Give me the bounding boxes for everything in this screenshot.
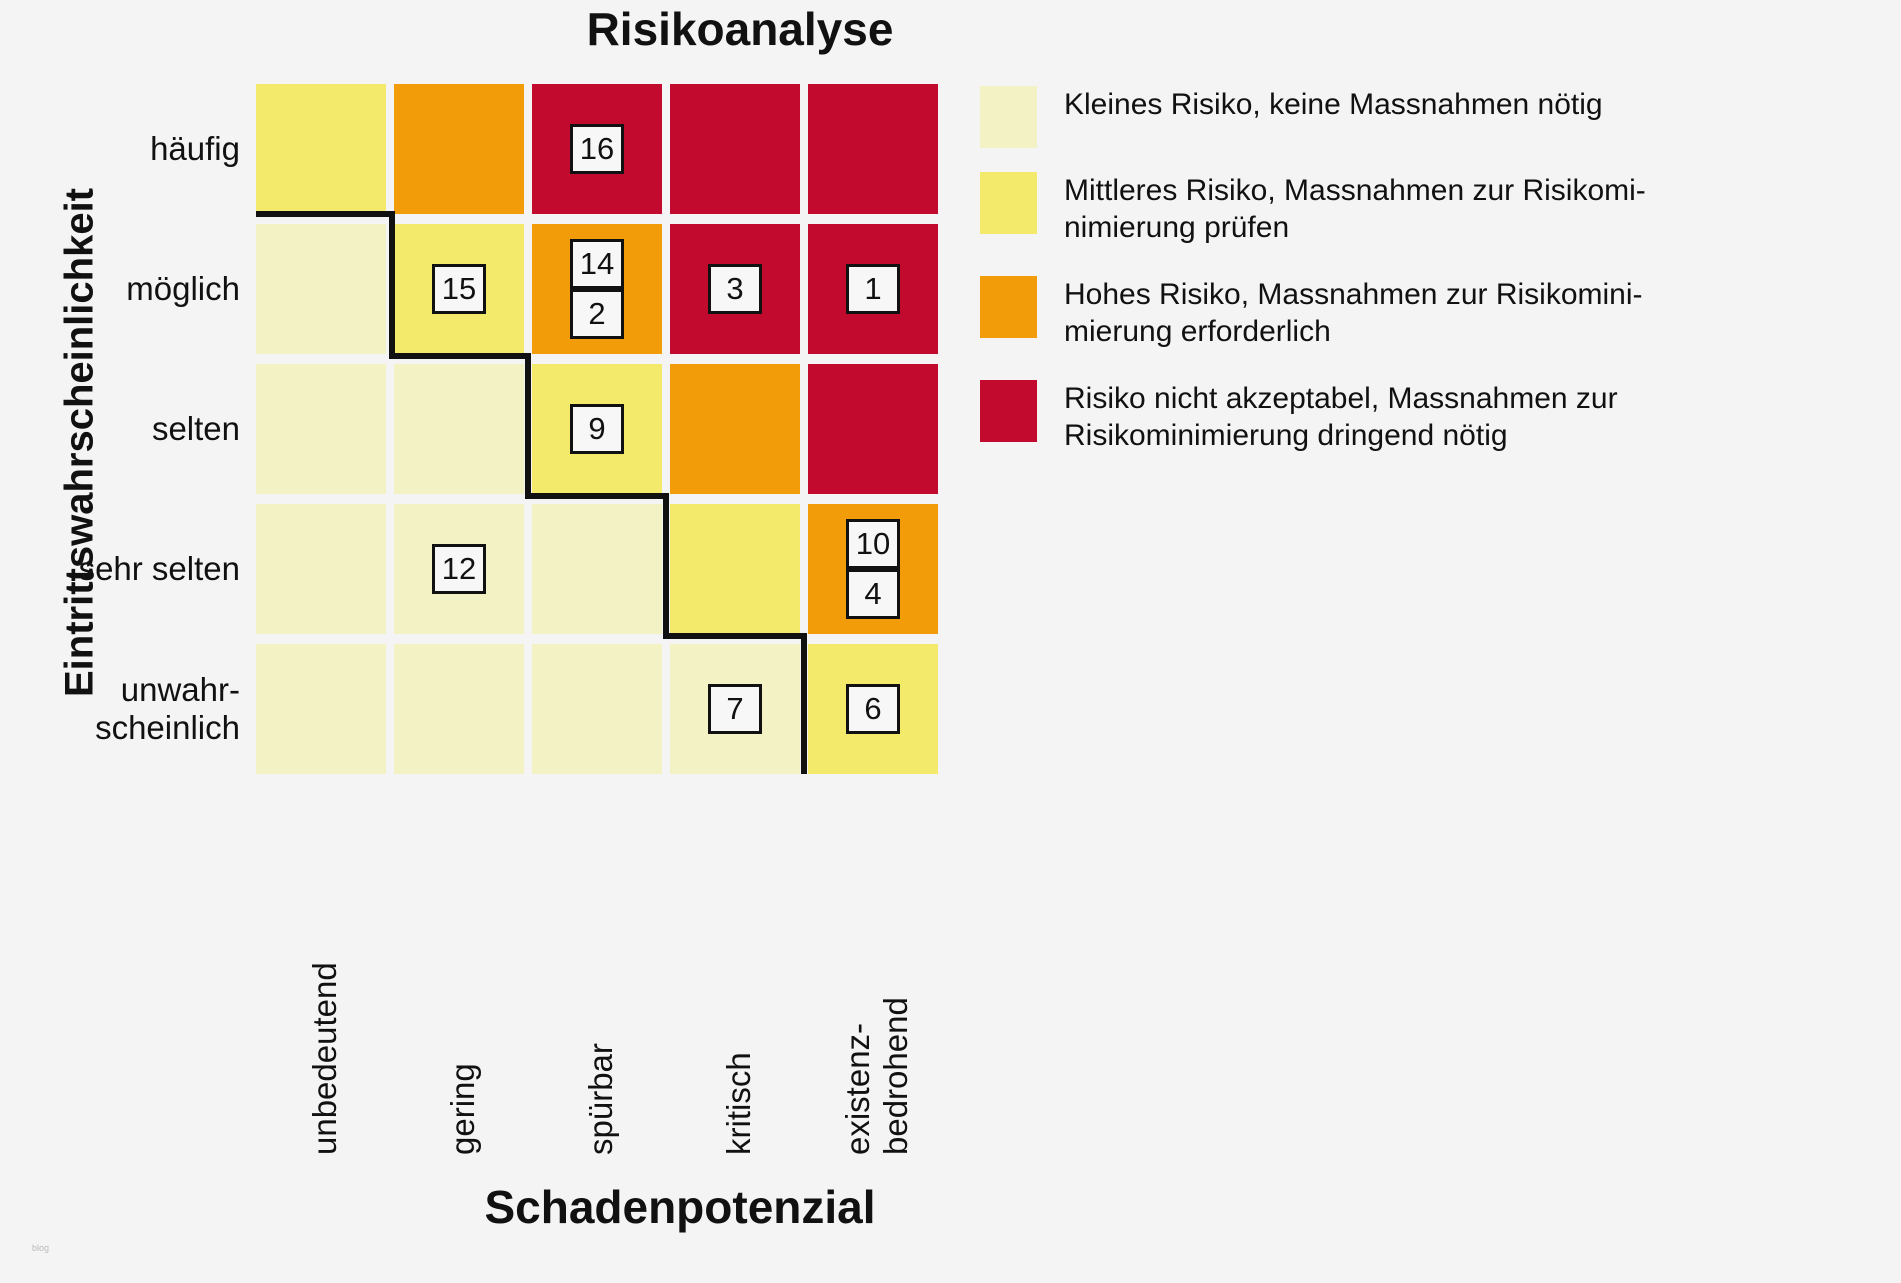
column-label-2: spürbar (582, 755, 620, 1155)
matrix-cell-r0-c3[interactable] (670, 84, 800, 214)
row-label-0: häufig (0, 130, 240, 168)
legend-item-critical: Risiko nicht akzeptabel, Massnahmen zur … (980, 380, 1618, 454)
legend-label-medium: Mittleres Risiko, Massnahmen zur Risikom… (1064, 172, 1646, 246)
row-label-3: sehr selten (0, 550, 240, 588)
legend-label-low: Kleines Risiko, keine Massnahmen nötig (1064, 86, 1603, 123)
risk-marker-2[interactable]: 2 (570, 289, 624, 339)
risk-marker-3[interactable]: 3 (708, 264, 762, 314)
risk-marker-7[interactable]: 7 (708, 684, 762, 734)
legend-item-high: Hohes Risiko, Massnahmen zur Risikomini-… (980, 276, 1643, 350)
column-label-4: existenz- bedrohend (839, 755, 915, 1155)
legend-item-low: Kleines Risiko, keine Massnahmen nötig (980, 86, 1603, 148)
risk-marker-10[interactable]: 10 (846, 519, 900, 569)
row-label-1: möglich (0, 270, 240, 308)
matrix-cell-r3-c2[interactable] (532, 504, 662, 634)
watermark: blog (32, 1243, 49, 1253)
risk-marker-6[interactable]: 6 (846, 684, 900, 734)
column-label-1: gering (444, 755, 482, 1155)
risk-marker-1[interactable]: 1 (846, 264, 900, 314)
matrix-cell-r3-c0[interactable] (256, 504, 386, 634)
risk-marker-15[interactable]: 15 (432, 264, 486, 314)
matrix-cell-r3-c3[interactable] (670, 504, 800, 634)
legend-item-medium: Mittleres Risiko, Massnahmen zur Risikom… (980, 172, 1646, 246)
matrix-cell-r0-c0[interactable] (256, 84, 386, 214)
legend-swatch-low (980, 86, 1037, 148)
matrix-cell-r2-c0[interactable] (256, 364, 386, 494)
legend-label-high: Hohes Risiko, Massnahmen zur Risikomini-… (1064, 276, 1643, 350)
matrix-cell-r2-c3[interactable] (670, 364, 800, 494)
matrix-cell-r2-c4[interactable] (808, 364, 938, 494)
column-label-0: unbedeutend (306, 755, 344, 1155)
risk-marker-14[interactable]: 14 (570, 239, 624, 289)
legend-swatch-high (980, 276, 1037, 338)
legend-swatch-medium (980, 172, 1037, 234)
risk-marker-9[interactable]: 9 (570, 404, 624, 454)
matrix-cell-r1-c0[interactable] (256, 224, 386, 354)
matrix-cell-r0-c4[interactable] (808, 84, 938, 214)
legend-swatch-critical (980, 380, 1037, 442)
legend-label-critical: Risiko nicht akzeptabel, Massnahmen zur … (1064, 380, 1618, 454)
matrix-cell-r2-c1[interactable] (394, 364, 524, 494)
risk-marker-12[interactable]: 12 (432, 544, 486, 594)
column-label-3: kritisch (720, 755, 758, 1155)
row-label-4: unwahr- scheinlich (0, 671, 240, 747)
risk-matrix-figure: Risikoanalyse Eintrittswahrscheinlichkei… (0, 0, 1901, 1283)
risk-marker-4[interactable]: 4 (846, 569, 900, 619)
x-axis-title: Schadenpotenzial (310, 1180, 1050, 1234)
matrix-cell-r0-c1[interactable] (394, 84, 524, 214)
risk-marker-16[interactable]: 16 (570, 124, 624, 174)
page-title: Risikoanalyse (0, 2, 1480, 56)
row-label-2: selten (0, 410, 240, 448)
